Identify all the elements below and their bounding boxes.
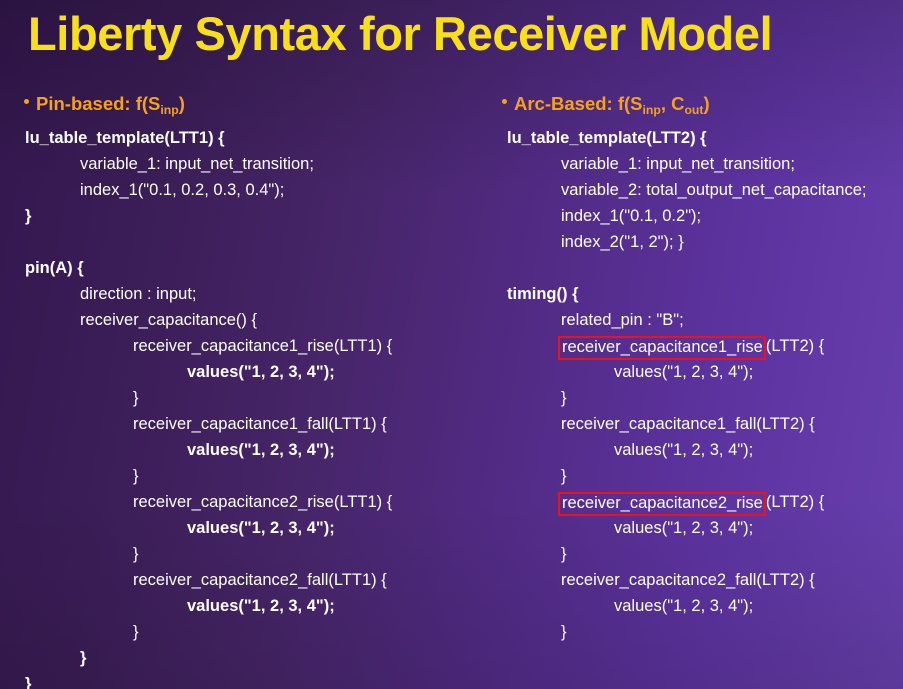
code-line: } (500, 619, 900, 645)
right-heading-suffix: ) (703, 93, 709, 114)
code-line: } (22, 463, 492, 489)
code-line: values("1, 2, 3, 4"); (22, 359, 492, 385)
right-column: Arc-Based: f(Sinp, Cout) lu_table_templa… (500, 92, 900, 645)
code-line: pin(A) { (22, 255, 492, 281)
code-line: values("1, 2, 3, 4"); (500, 437, 900, 463)
right-code-block: lu_table_template(LTT2) {variable_1: inp… (500, 125, 900, 645)
code-line: index_1("0.1, 0.2"); (500, 203, 900, 229)
code-line: values("1, 2, 3, 4"); (500, 515, 900, 541)
code-line: receiver_capacitance2_fall(LTT1) { (22, 567, 492, 593)
code-line: receiver_capacitance2_fall(LTT2) { (500, 567, 900, 593)
code-line: lu_table_template(LTT2) { (500, 125, 900, 151)
code-line: receiver_capacitance() { (22, 307, 492, 333)
code-line-text: (LTT2) { (766, 493, 824, 511)
code-line: } (500, 385, 900, 411)
code-line: } (500, 541, 900, 567)
code-line: } (500, 463, 900, 489)
code-line: variable_1: input_net_transition; (500, 151, 900, 177)
code-line: receiver_capacitance1_rise(LTT1) { (22, 333, 492, 359)
code-line: index_2("1, 2"); } (500, 229, 900, 255)
left-heading-prefix: Pin-based: f(S (36, 93, 160, 114)
code-line: variable_1: input_net_transition; (22, 151, 492, 177)
code-line-text: (LTT2) { (766, 337, 824, 355)
left-code-block: lu_table_template(LTT1) {variable_1: inp… (22, 125, 492, 689)
code-line: } (22, 203, 492, 229)
code-line: receiver_capacitance2_rise(LTT2) { (500, 489, 900, 515)
code-line: receiver_capacitance1_rise(LTT2) { (500, 333, 900, 359)
slide-canvas: Liberty Syntax for Receiver Model Pin-ba… (0, 0, 903, 689)
code-line (22, 229, 492, 255)
code-line: variable_2: total_output_net_capacitance… (500, 177, 900, 203)
code-line: lu_table_template(LTT1) { (22, 125, 492, 151)
highlight-box: receiver_capacitance2_rise (558, 492, 766, 516)
code-line: values("1, 2, 3, 4"); (22, 515, 492, 541)
code-line (500, 255, 900, 281)
right-heading-subscript-1: inp (643, 103, 661, 117)
left-heading-suffix: ) (179, 93, 185, 114)
left-column: Pin-based: f(Sinp) lu_table_template(LTT… (22, 92, 492, 689)
code-line: } (22, 541, 492, 567)
right-heading-mid: , C (661, 93, 685, 114)
code-line: direction : input; (22, 281, 492, 307)
code-line: } (22, 671, 492, 689)
code-line: values("1, 2, 3, 4"); (500, 593, 900, 619)
code-line: } (22, 385, 492, 411)
code-line: related_pin : "B"; (500, 307, 900, 333)
page-title: Liberty Syntax for Receiver Model (28, 6, 878, 61)
code-line: values("1, 2, 3, 4"); (22, 593, 492, 619)
bullet-dot-icon (502, 99, 507, 104)
right-column-heading: Arc-Based: f(Sinp, Cout) (500, 92, 900, 118)
code-line: } (22, 645, 492, 671)
code-line: timing() { (500, 281, 900, 307)
highlight-box: receiver_capacitance1_rise (558, 336, 766, 360)
bullet-dot-icon (24, 99, 29, 104)
right-heading-prefix: Arc-Based: f(S (514, 93, 643, 114)
code-line: values("1, 2, 3, 4"); (22, 437, 492, 463)
left-heading-subscript: inp (160, 103, 178, 117)
code-line: values("1, 2, 3, 4"); (500, 359, 900, 385)
code-line: } (22, 619, 492, 645)
code-line: receiver_capacitance2_rise(LTT1) { (22, 489, 492, 515)
left-column-heading: Pin-based: f(Sinp) (22, 92, 492, 118)
code-line: receiver_capacitance1_fall(LTT1) { (22, 411, 492, 437)
code-line: index_1("0.1, 0.2, 0.3, 0.4"); (22, 177, 492, 203)
code-line: receiver_capacitance1_fall(LTT2) { (500, 411, 900, 437)
right-heading-subscript-2: out (684, 103, 703, 117)
